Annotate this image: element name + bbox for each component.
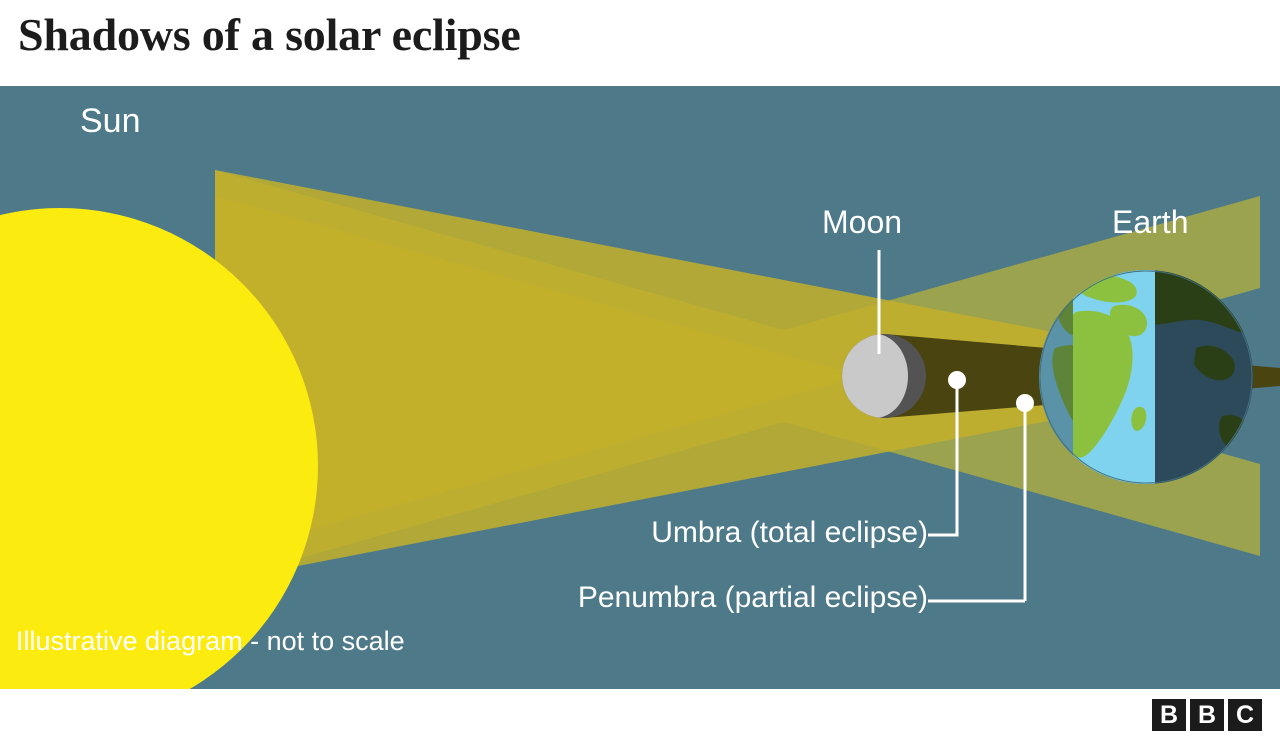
scale-footnote: Illustrative diagram - not to scale (16, 626, 405, 657)
earth-body (1039, 270, 1253, 484)
page-title: Shadows of a solar eclipse (18, 8, 521, 61)
bbc-logo-letter-3: C (1228, 699, 1262, 731)
title-bar: Shadows of a solar eclipse (0, 0, 1280, 86)
earth-lit-band (1072, 270, 1155, 484)
bbc-logo-letter-1: B (1152, 699, 1186, 731)
moon-body (842, 334, 926, 418)
diagram-stage: Sun Moon Earth Umbra (total eclipse) Pen… (0, 86, 1280, 689)
bbc-logo-letter-2: B (1190, 699, 1224, 731)
footer-bar: B B C (0, 689, 1280, 740)
eclipse-diagram-svg (0, 86, 1280, 689)
infographic-root: Shadows of a solar eclipse (0, 0, 1280, 740)
bbc-logo: B B C (1152, 699, 1262, 731)
